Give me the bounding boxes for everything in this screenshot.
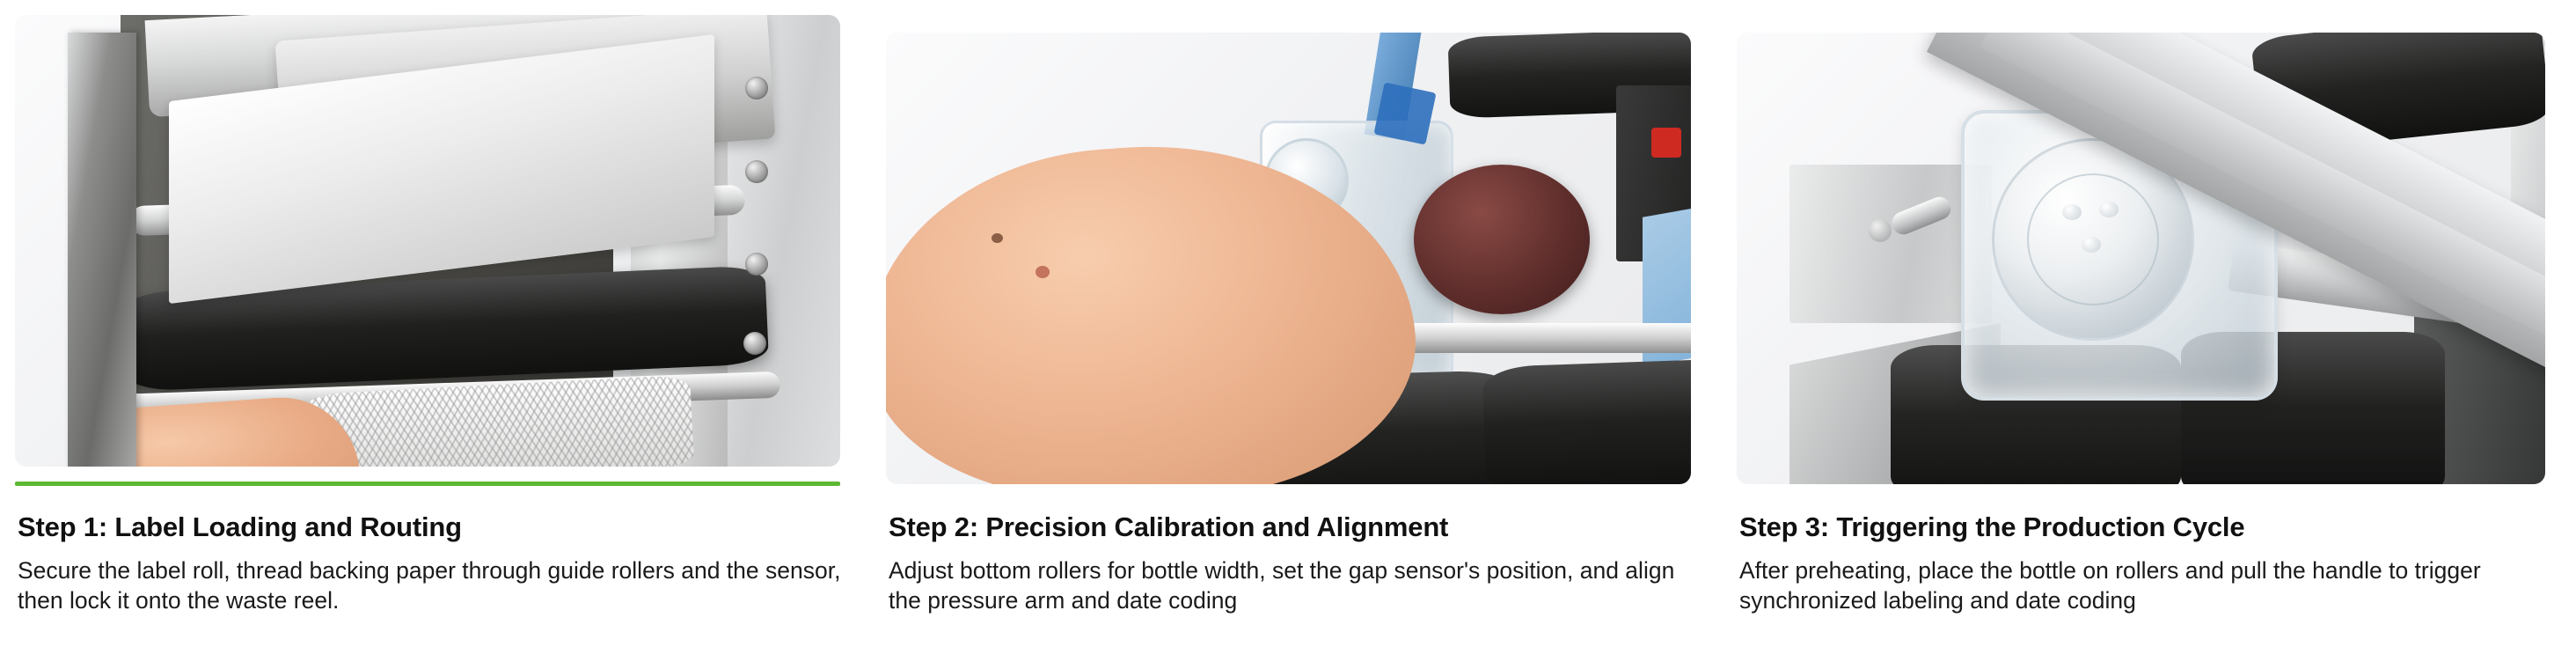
labeling-machine-rollers-image (15, 15, 840, 467)
step-1-description: Secure the label roll, thread backing pa… (18, 555, 845, 616)
step-3-description: After preheating, place the bottle on ro… (1739, 555, 2549, 616)
step-2-description: Adjust bottom rollers for bottle width, … (889, 555, 1698, 616)
step-3-title: Step 3: Triggering the Production Cycle (1739, 513, 2541, 542)
cap-detail (2082, 237, 2101, 253)
step-card-2[interactable]: Step 2: Precision Calibration and Alignm… (871, 0, 1722, 662)
bolt-icon (745, 253, 768, 276)
step-card-1[interactable]: Step 1: Label Loading and Routing Secure… (0, 0, 871, 662)
step-2-photo (886, 33, 1691, 484)
step-1-title: Step 1: Label Loading and Routing (18, 513, 836, 542)
step-3-photo (1737, 33, 2545, 484)
skin-detail (1036, 266, 1050, 278)
step-2-title: Step 2: Precision Calibration and Alignm… (889, 513, 1687, 542)
steps-grid: Step 1: Label Loading and Routing Secure… (0, 0, 2576, 662)
calibration-adjustment-image (886, 33, 1691, 484)
maroon-pressure-roller (1414, 165, 1590, 314)
step-1-progress-bar (15, 482, 840, 486)
red-indicator (1651, 128, 1681, 158)
machine-left-plate (68, 33, 136, 467)
bottom-black-roller-right (1482, 358, 1691, 484)
blue-tape-marker (1373, 82, 1436, 144)
cap-detail (2099, 202, 2119, 217)
bolt-icon (743, 332, 766, 355)
step-1-photo (15, 15, 840, 467)
cap-detail (2062, 204, 2082, 220)
step-card-3[interactable]: Step 3: Triggering the Production Cycle … (1722, 0, 2576, 662)
skin-detail (992, 233, 1003, 243)
bolt-icon (745, 77, 768, 99)
locking-lever-knob (1869, 219, 1892, 242)
bolt-icon (745, 160, 768, 183)
production-cycle-image (1737, 33, 2545, 484)
